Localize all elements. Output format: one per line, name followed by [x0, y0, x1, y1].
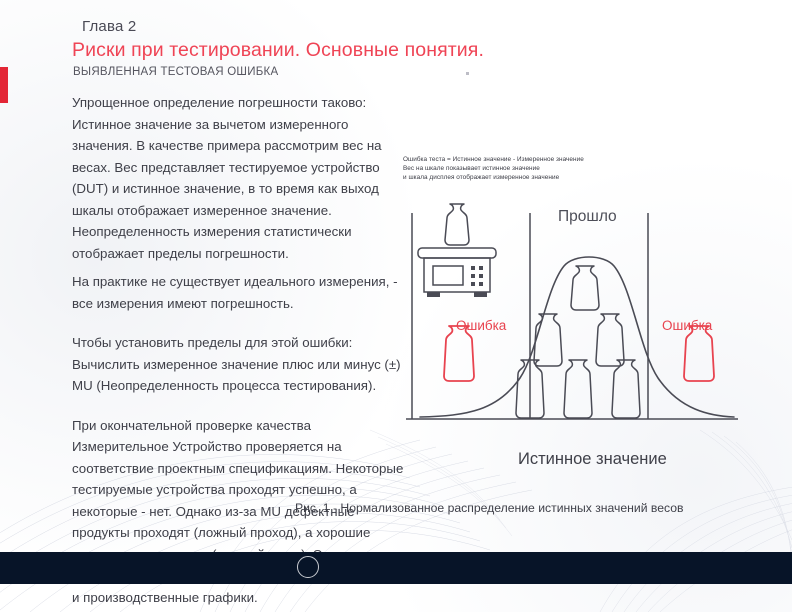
paragraph-3: Чтобы установить пределы для этой ошибки…	[72, 332, 407, 397]
paragraph-spacer	[72, 314, 407, 332]
error-label-left: Ошибка	[456, 318, 506, 333]
slide: Глава 2 Риски при тестировании. Основные…	[0, 0, 792, 612]
error-weight-right-icon	[684, 326, 714, 381]
red-accent-bar	[0, 67, 8, 103]
paragraph-spacer	[72, 264, 407, 271]
diagram-note-line-3: и шкала дисплея отображает измеренное зн…	[403, 173, 584, 182]
bottom-bar-circle-icon[interactable]	[297, 556, 319, 578]
weight-pyramid	[516, 266, 640, 418]
subtitle-dot-marker	[466, 72, 469, 75]
diagram-note-line-2: Вес на шкале показывает истинное значени…	[403, 164, 584, 173]
paragraph-spacer	[72, 397, 407, 415]
paragraph-2: На практике не существует идеального изм…	[72, 271, 407, 314]
error-label-right: Ошибка	[662, 318, 712, 333]
bottom-bar	[0, 552, 792, 584]
page-title: Риски при тестировании. Основные понятия…	[72, 39, 484, 62]
diagram-note: Ошибка теста = Истинное значение - Измер…	[403, 155, 584, 183]
figure-caption: Рис. 1 - Нормализованное распределение и…	[295, 501, 684, 515]
distribution-diagram: Ошибка теста = Истинное значение - Измер…	[398, 150, 783, 490]
diagram-note-line-1: Ошибка теста = Истинное значение - Измер…	[403, 155, 584, 164]
page-subtitle: ВЫЯВЛЕННАЯ ТЕСТОВАЯ ОШИБКА	[73, 66, 278, 78]
pass-region-label: Прошло	[558, 208, 617, 226]
body-text-column: Упрощенное определение погрешности таков…	[72, 92, 407, 608]
chapter-label: Глава 2	[82, 18, 136, 35]
diagram-graphic	[398, 188, 783, 488]
balance-scale-icon	[418, 204, 496, 297]
paragraph-1: Упрощенное определение погрешности таков…	[72, 92, 407, 264]
true-value-axis-label: Истинное значение	[518, 450, 667, 469]
error-weight-left-icon	[444, 326, 474, 381]
